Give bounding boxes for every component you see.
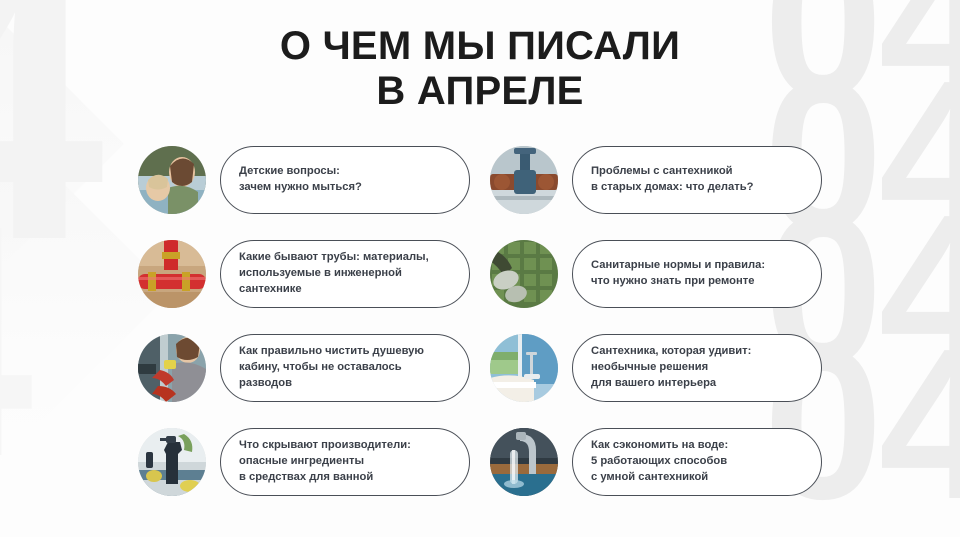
article-title: Детские вопросы: зачем нужно мыться? bbox=[239, 164, 362, 196]
article-item[interactable]: Как правильно чистить душевую кабину, чт… bbox=[138, 334, 470, 402]
article-title: Что скрывают производители: опасные ингр… bbox=[239, 438, 411, 486]
article-item[interactable]: Сантехника, которая удивит: необычные ре… bbox=[490, 334, 822, 402]
article-title: Как сэкономить на воде: 5 работающих спо… bbox=[591, 438, 728, 486]
poster-canvas: 4 4 04 04 04 04 О ЧЕМ МЫ ПИСАЛИ В АПРЕЛЕ… bbox=[0, 0, 960, 537]
old-rusty-valve-photo bbox=[490, 146, 558, 214]
article-pill[interactable]: Как сэкономить на воде: 5 работающих спо… bbox=[572, 428, 822, 496]
worker-green-tiles-photo bbox=[490, 240, 558, 308]
watermark-digit-left-lower: 4 bbox=[0, 212, 27, 469]
red-pipes-photo bbox=[138, 240, 206, 308]
article-item[interactable]: Санитарные нормы и правила: что нужно зн… bbox=[490, 240, 822, 308]
title-line-1: О ЧЕМ МЫ ПИСАЛИ bbox=[0, 24, 960, 69]
article-item[interactable]: Какие бывают трубы: материалы, используе… bbox=[138, 240, 470, 308]
article-item[interactable]: Что скрывают производители: опасные ингр… bbox=[138, 428, 470, 496]
article-pill[interactable]: Детские вопросы: зачем нужно мыться? bbox=[220, 146, 470, 214]
article-pill[interactable]: Сантехника, которая удивит: необычные ре… bbox=[572, 334, 822, 402]
page-title: О ЧЕМ МЫ ПИСАЛИ В АПРЕЛЕ bbox=[0, 24, 960, 114]
article-list: Детские вопросы: зачем нужно мыться?Проб… bbox=[138, 146, 822, 496]
woman-washing-child-photo bbox=[138, 146, 206, 214]
article-title: Как правильно чистить душевую кабину, чт… bbox=[239, 344, 424, 392]
article-item[interactable]: Как сэкономить на воде: 5 работающих спо… bbox=[490, 428, 822, 496]
article-title: Сантехника, которая удивит: необычные ре… bbox=[591, 344, 751, 392]
article-title: Санитарные нормы и правила: что нужно зн… bbox=[591, 258, 765, 290]
article-title: Проблемы с сантехникой в старых домах: ч… bbox=[591, 164, 753, 196]
spray-bottle-bathroom-photo bbox=[138, 428, 206, 496]
running-faucet-photo bbox=[490, 428, 558, 496]
title-line-2: В АПРЕЛЕ bbox=[0, 69, 960, 114]
article-pill[interactable]: Санитарные нормы и правила: что нужно зн… bbox=[572, 240, 822, 308]
article-item[interactable]: Детские вопросы: зачем нужно мыться? bbox=[138, 146, 470, 214]
article-pill[interactable]: Как правильно чистить душевую кабину, чт… bbox=[220, 334, 470, 402]
woman-cleaning-shower-photo bbox=[138, 334, 206, 402]
article-title: Какие бывают трубы: материалы, используе… bbox=[239, 250, 429, 298]
article-pill[interactable]: Какие бывают трубы: материалы, используе… bbox=[220, 240, 470, 308]
bathtub-window-view-photo bbox=[490, 334, 558, 402]
article-item[interactable]: Проблемы с сантехникой в старых домах: ч… bbox=[490, 146, 822, 214]
article-pill[interactable]: Проблемы с сантехникой в старых домах: ч… bbox=[572, 146, 822, 214]
article-pill[interactable]: Что скрывают производители: опасные ингр… bbox=[220, 428, 470, 496]
